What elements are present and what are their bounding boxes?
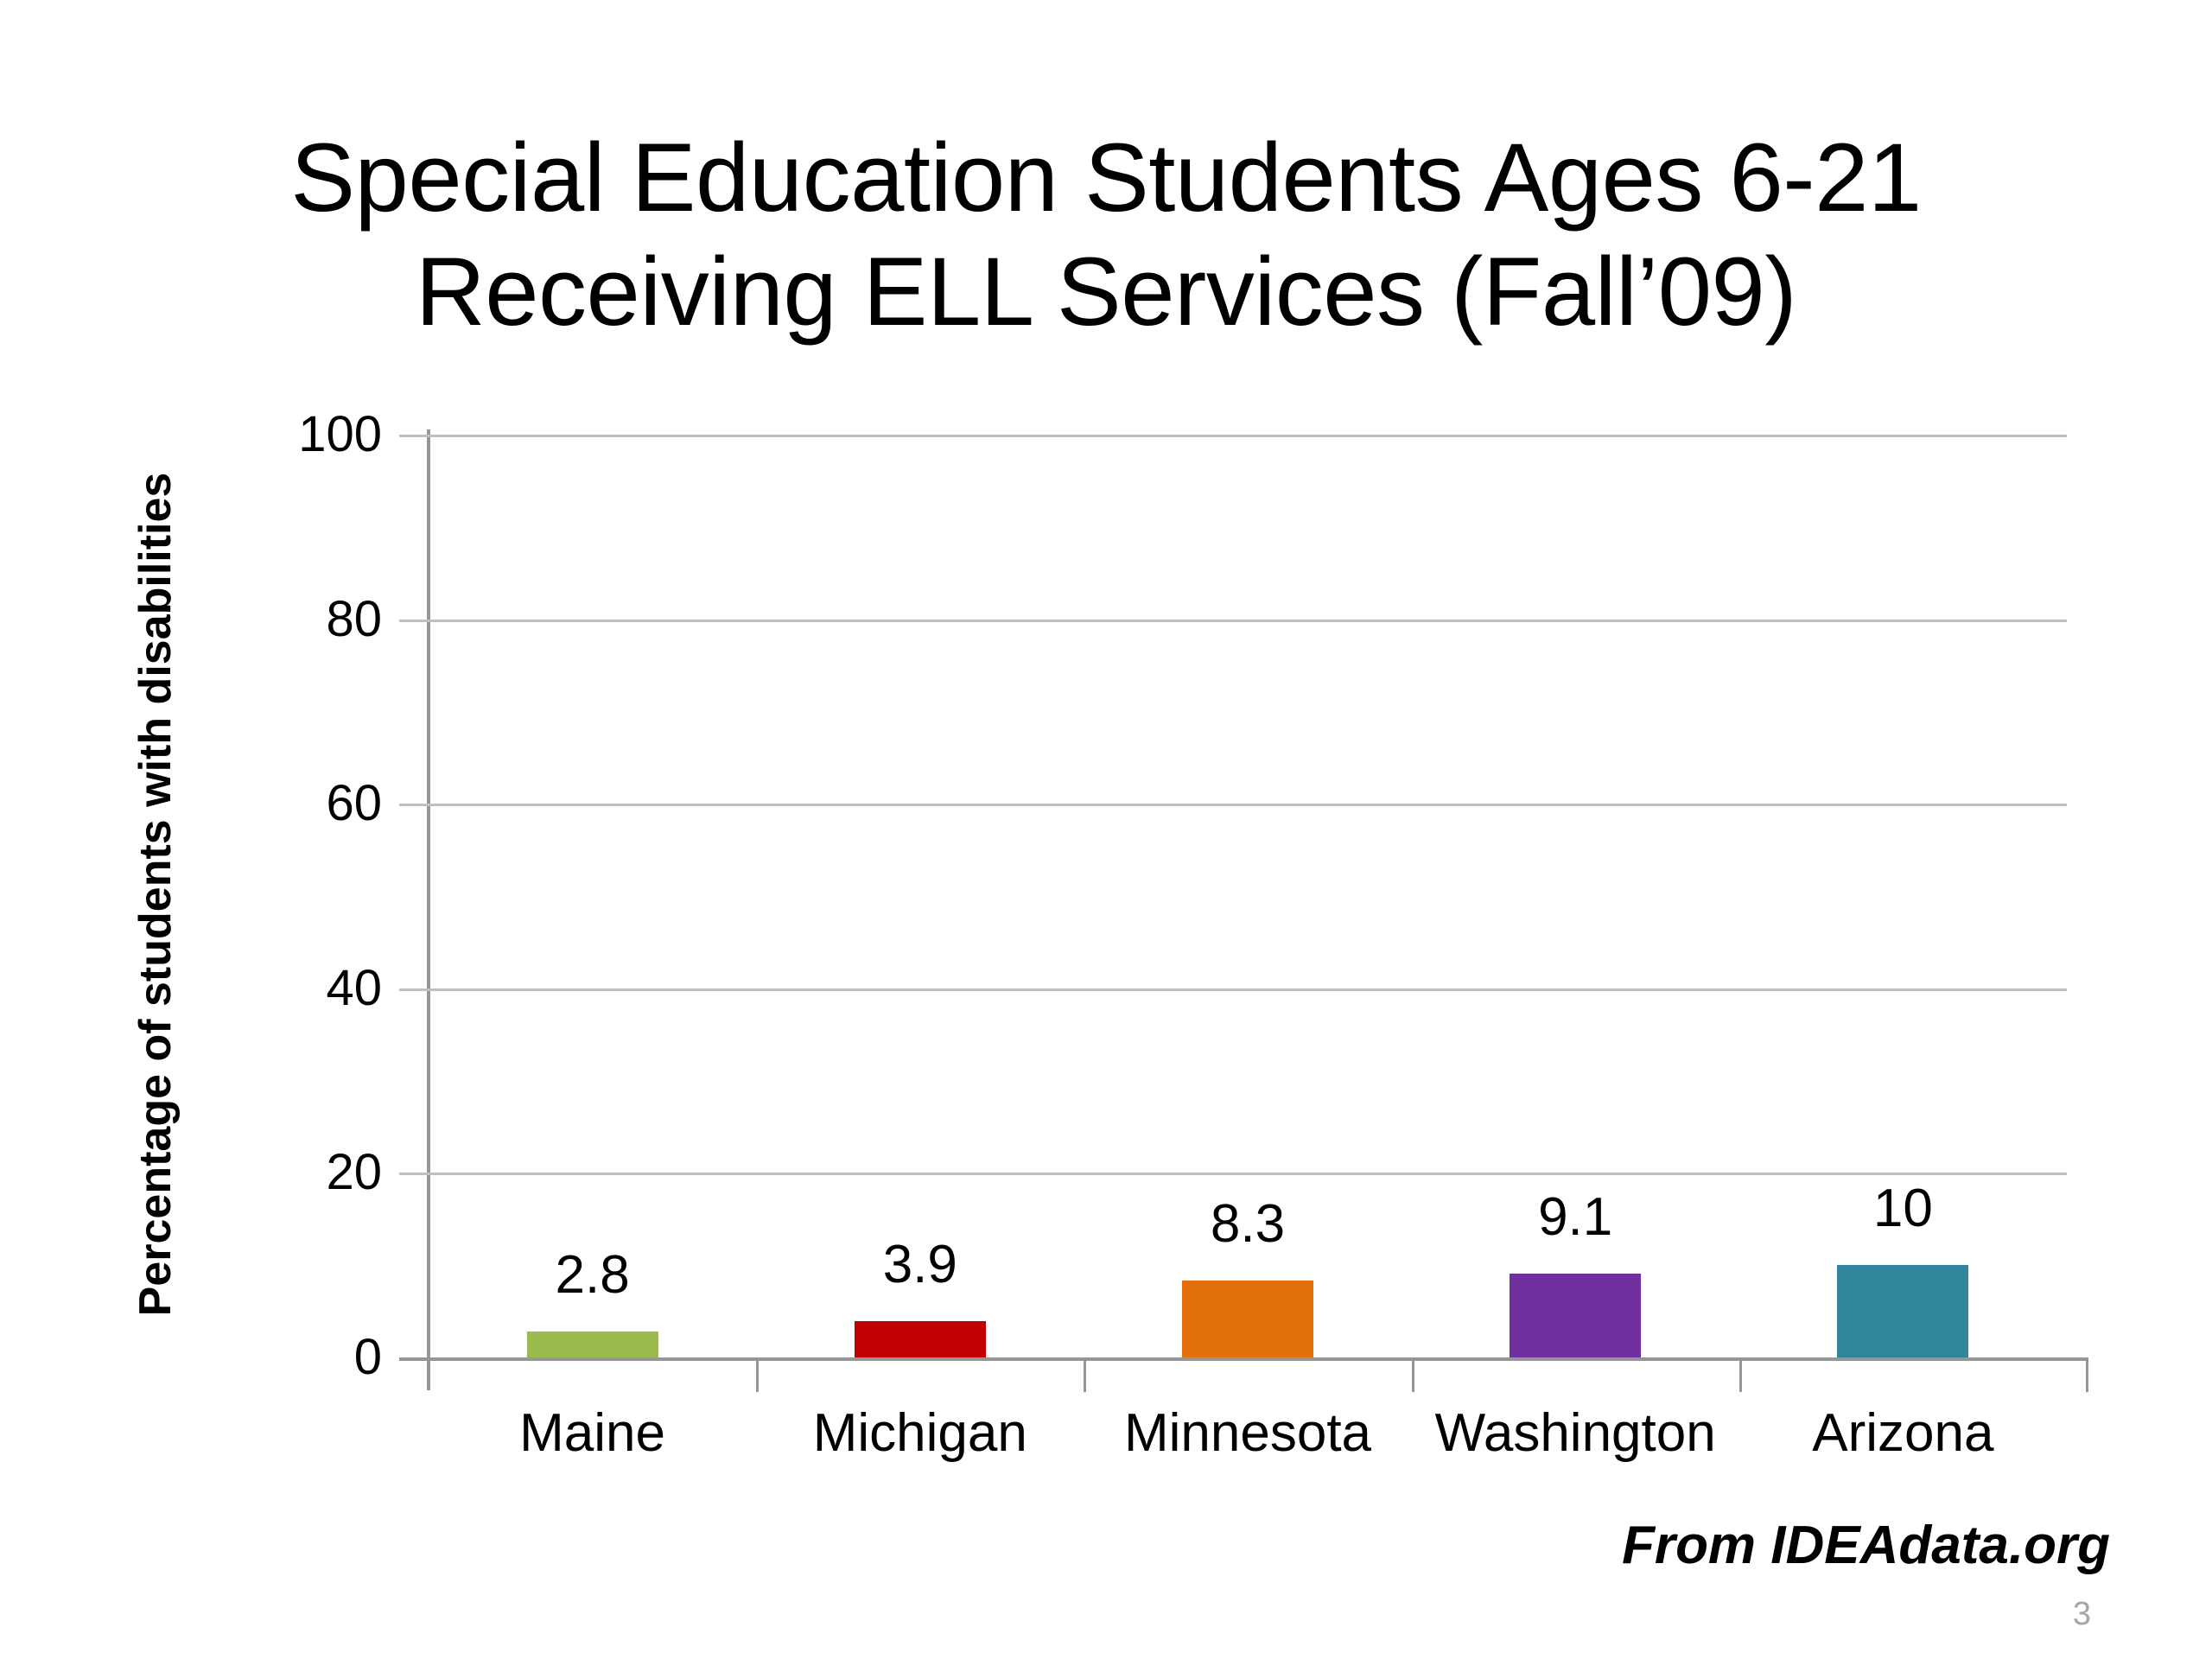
bar[interactable] (527, 1332, 658, 1357)
y-tick-mark (399, 804, 430, 806)
y-tick-mark (399, 435, 430, 437)
bar[interactable] (1510, 1274, 1641, 1357)
x-tick-mark (756, 1357, 759, 1392)
slide-canvas: Special Education Students Ages 6-21 Rec… (0, 0, 2212, 1659)
bar-value-label: 9.1 (1446, 1191, 1705, 1244)
bar[interactable] (1837, 1265, 1968, 1357)
y-tick-mark (399, 1173, 430, 1175)
y-axis-title: Percentage of students with disabilities (104, 432, 207, 1357)
x-tick-mark (1739, 1357, 1742, 1392)
x-tick-mark (1412, 1357, 1414, 1392)
y-tick-label: 100 (298, 410, 382, 460)
bar-value-label: 2.8 (463, 1249, 722, 1302)
page-number: 3 (2073, 1596, 2091, 1633)
bar-value-label: 8.3 (1118, 1198, 1377, 1251)
y-axis-title-text: Percentage of students with disabilities (130, 462, 181, 1326)
bar[interactable] (1182, 1281, 1313, 1357)
y-tick-label: 60 (326, 779, 382, 829)
y-tick-label: 0 (354, 1332, 382, 1382)
source-note: From IDEAdata.org (1622, 1515, 2110, 1576)
y-tick-mark (399, 1357, 430, 1361)
y-tick-label: 20 (326, 1147, 382, 1198)
bar[interactable] (855, 1321, 986, 1357)
bar-value-label: 10 (1773, 1182, 2032, 1236)
y-tick-mark (399, 988, 430, 991)
x-tick-mark (2086, 1357, 2088, 1392)
x-tick-mark (1084, 1357, 1086, 1392)
y-tick-mark (399, 620, 430, 622)
x-axis-label: Arizona (1687, 1407, 2119, 1460)
axis-baseline (429, 1357, 2088, 1361)
y-tick-label: 40 (326, 963, 382, 1014)
y-tick-label: 80 (326, 594, 382, 645)
bar-value-label: 3.9 (791, 1238, 1050, 1292)
page-title: Special Education Students Ages 6-21 Rec… (104, 121, 2108, 349)
